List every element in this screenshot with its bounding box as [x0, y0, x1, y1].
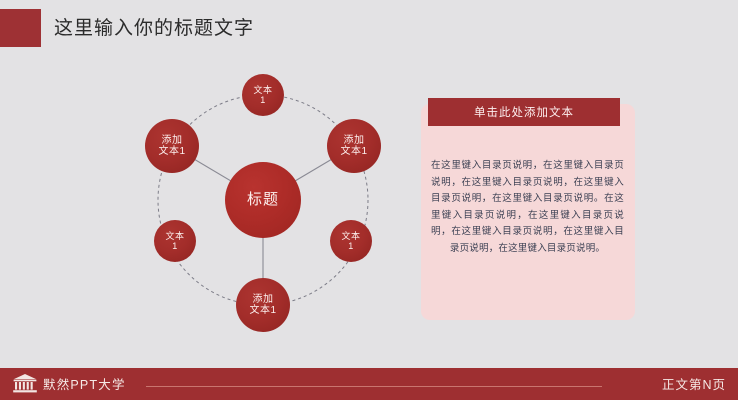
- node-line-1: 文本: [165, 231, 184, 241]
- panel-body-text[interactable]: 在这里键入目录页说明，在这里键入目录页说明，在这里键入目录页说明，在这里键入目录…: [431, 158, 624, 258]
- node-line-2: 文本1: [340, 146, 367, 157]
- footer-divider-rule: [146, 386, 602, 387]
- diagram-node-upper-left-text: 添加 文本1: [158, 135, 185, 157]
- diagram-node-lower-right-text: 文本 1: [341, 231, 360, 251]
- node-line-1: 添加: [249, 294, 276, 305]
- diagram-node-bottom[interactable]: 添加 文本1: [236, 278, 290, 332]
- diagram-node-top-text: 文本 1: [253, 85, 272, 105]
- temple-icon: [13, 374, 37, 393]
- diagram-node-bottom-text: 添加 文本1: [249, 294, 276, 316]
- node-line-2: 文本1: [158, 146, 185, 157]
- panel-header-label: 单击此处添加文本: [474, 104, 574, 120]
- diagram-center-label: 标题: [247, 192, 279, 209]
- diagram-node-upper-right[interactable]: 添加 文本1: [327, 119, 381, 173]
- node-line-2: 文本1: [249, 305, 276, 316]
- page-title: 这里输入你的标题文字: [54, 16, 254, 42]
- node-line-1: 添加: [158, 135, 185, 146]
- footer-page-label: 正文第N页: [662, 374, 726, 393]
- node-line-1: 添加: [340, 135, 367, 146]
- diagram-node-lower-left[interactable]: 文本 1: [154, 220, 196, 262]
- slide-canvas: 这里输入你的标题文字 标题 文本 1: [0, 0, 738, 400]
- hub-and-spoke-diagram: 标题 文本 1 添加 文本1 文本 1 添加: [118, 68, 408, 343]
- footer-bar: 默然PPT大学 正文第N页: [0, 368, 738, 400]
- diagram-node-top[interactable]: 文本 1: [242, 74, 284, 116]
- node-line-2: 1: [253, 95, 272, 105]
- diagram-node-upper-right-text: 添加 文本1: [340, 135, 367, 157]
- title-accent-block: [0, 9, 41, 47]
- node-line-1: 文本: [253, 85, 272, 95]
- footer-brand[interactable]: 默然PPT大学: [13, 374, 126, 393]
- panel-header-bar[interactable]: 单击此处添加文本: [428, 98, 620, 126]
- diagram-node-upper-left[interactable]: 添加 文本1: [145, 119, 199, 173]
- footer-brand-label: 默然PPT大学: [43, 374, 126, 393]
- node-line-1: 文本: [341, 231, 360, 241]
- diagram-node-lower-left-text: 文本 1: [165, 231, 184, 251]
- diagram-node-lower-right[interactable]: 文本 1: [330, 220, 372, 262]
- node-line-2: 1: [341, 241, 360, 251]
- node-line-2: 1: [165, 241, 184, 251]
- diagram-center-node[interactable]: 标题: [225, 162, 301, 238]
